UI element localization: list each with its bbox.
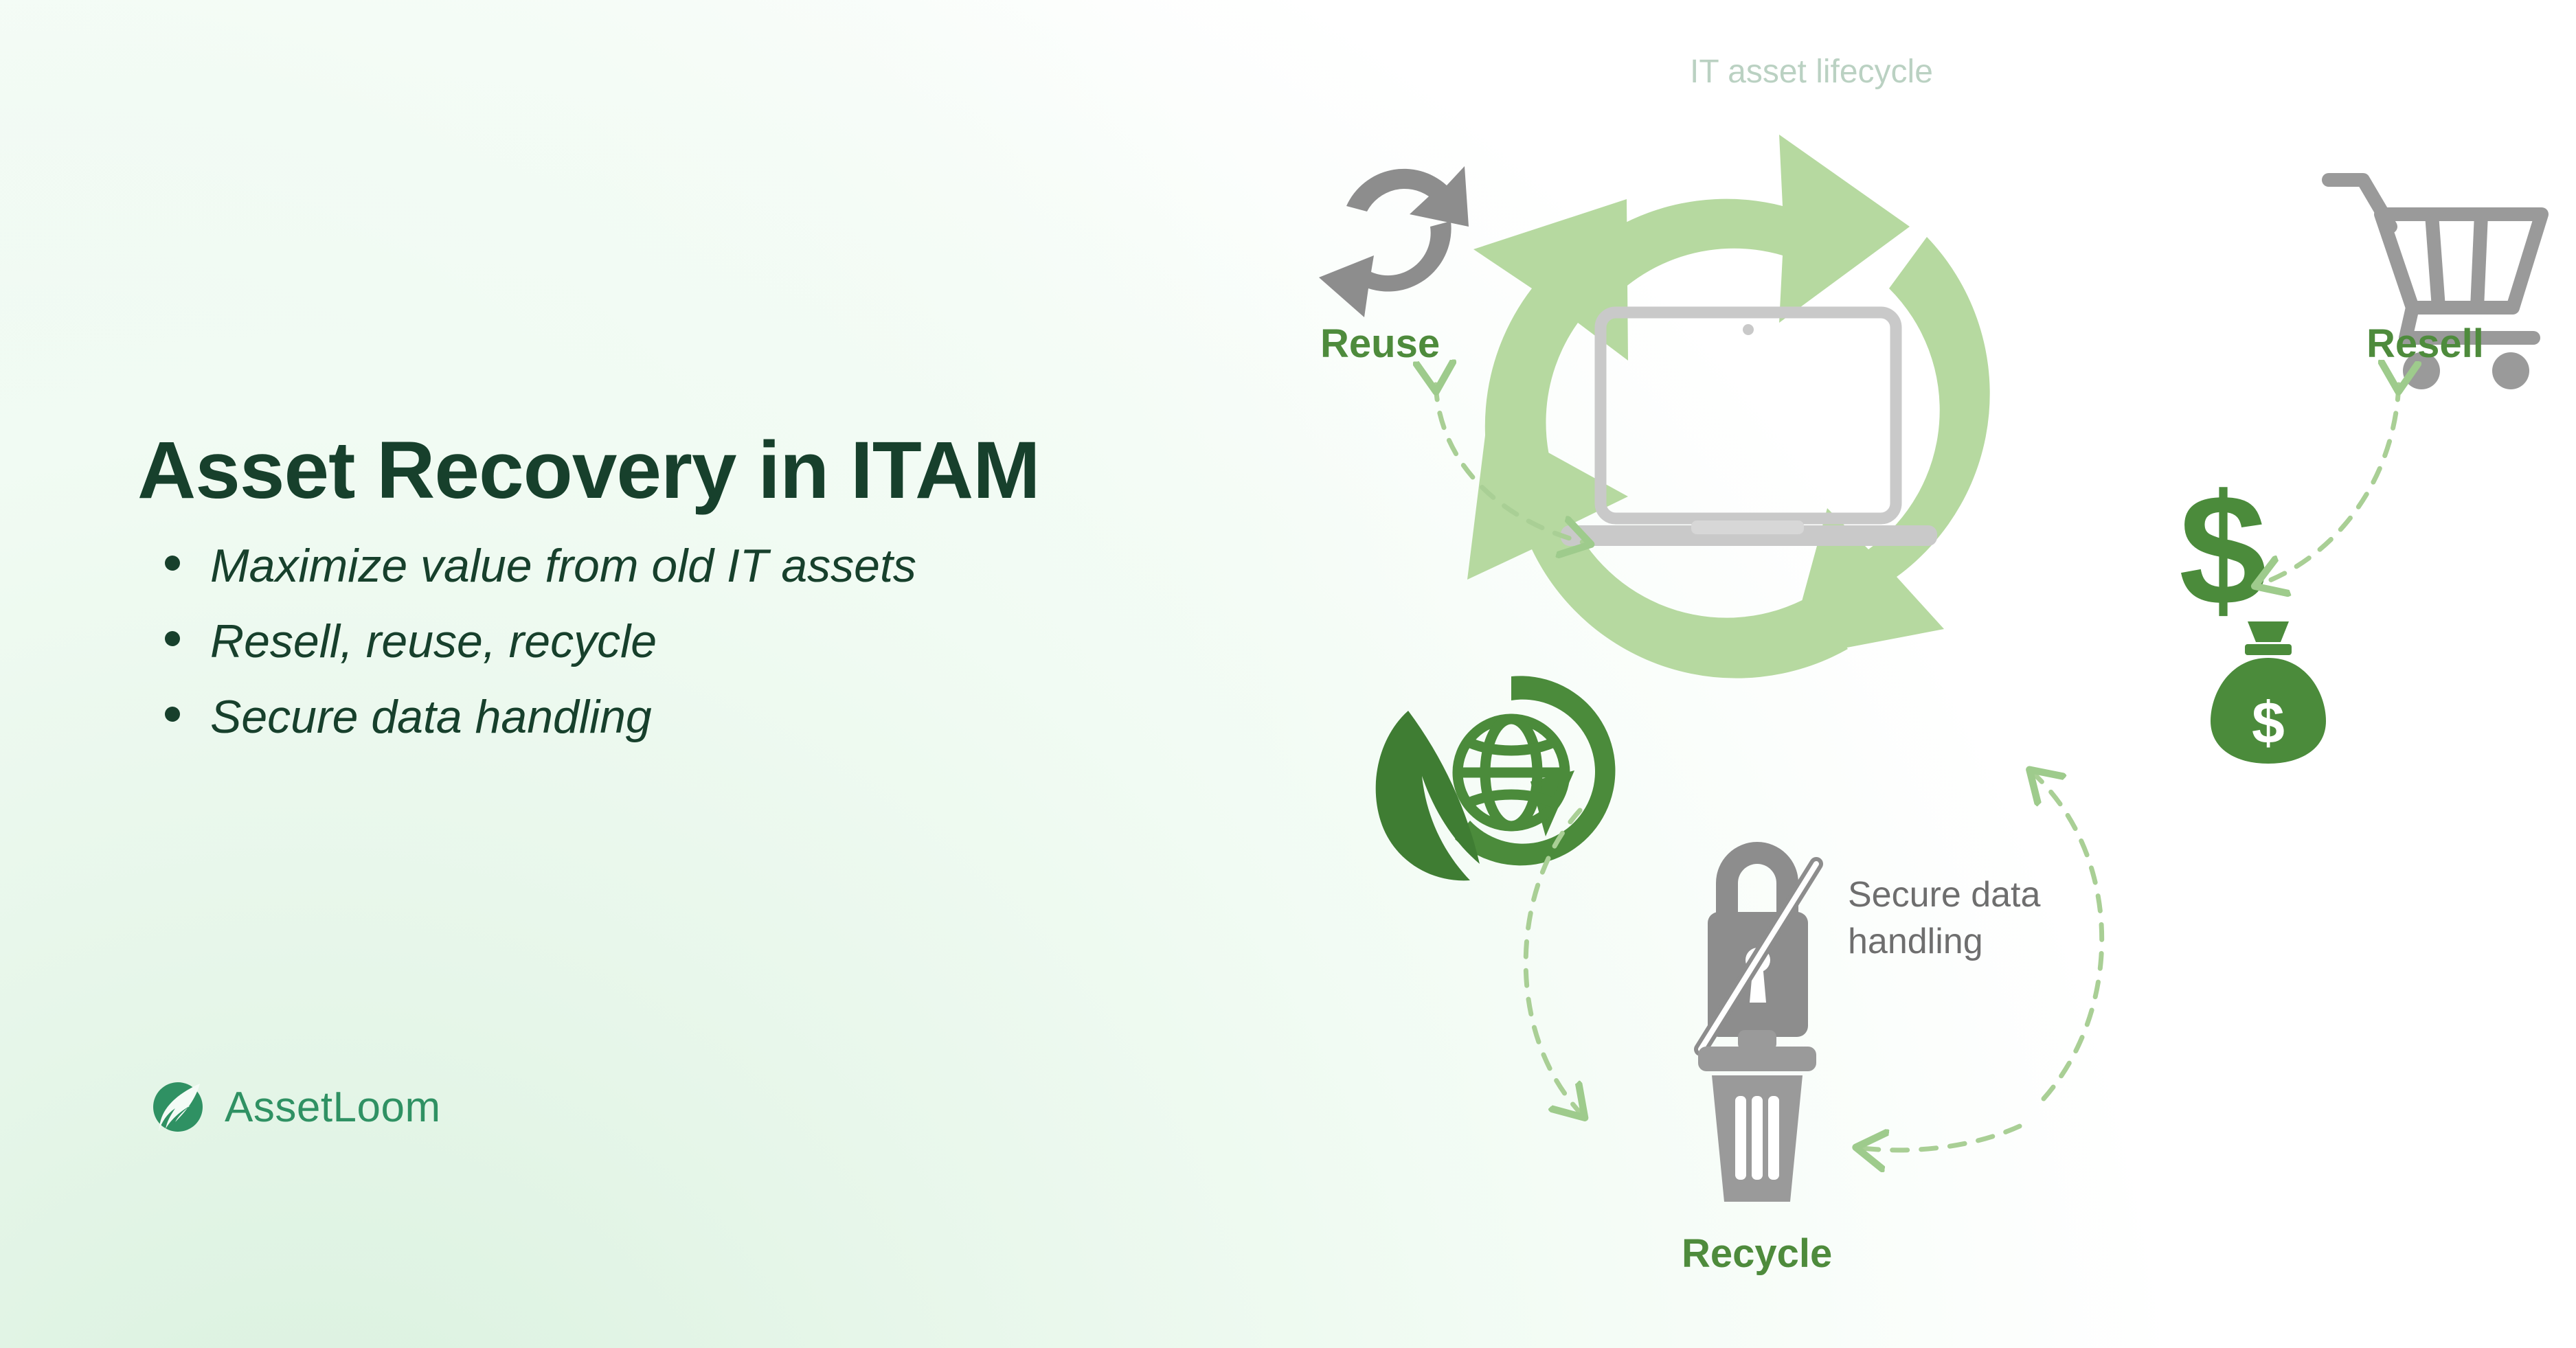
trash-can-icon [1698,1030,1816,1202]
svg-text:$: $ [2179,461,2267,638]
secure-data-line-2: handling [1848,922,1983,961]
bullet-text: Secure data handling [210,694,652,740]
money-bag-icon: $ [2211,621,2326,764]
clipped-caption-text: IT asset lifecycle [1690,54,1933,90]
leaf-circle-icon [148,1077,208,1137]
page-title: Asset Recovery in ITAM [137,429,1040,514]
node-reuse-label: Reuse [1320,321,1440,366]
circular-arrows-icon [1467,135,1990,678]
connector-secure-cycle [2035,775,2102,1099]
node-reuse: Reuse [1319,166,1469,366]
node-resell: Resell [2329,180,2542,389]
bullet-dot-icon [165,707,180,722]
node-resell-label: Resell [2366,321,2484,366]
brand-logo: AssetLoom [148,1077,441,1137]
annotation-secure-data-handling: Secure data handling [1701,842,2040,1049]
bullet-text: Maximize value from old IT assets [210,542,916,589]
list-item: Resell, reuse, recycle [165,618,916,665]
bullet-list: Maximize value from old IT assets Resell… [165,542,916,769]
dollar-sign-icon: $ [2179,461,2267,638]
refresh-cycle-icon [1319,166,1469,317]
eco-globe-leaf-icon [1376,676,1616,880]
svg-text:$: $ [2252,690,2285,756]
brand-name: AssetLoom [225,1083,441,1132]
bullet-dot-icon [165,631,180,646]
asset-recovery-diagram: IT asset lifecycle Reuse [1305,0,2576,1348]
list-item: Secure data handling [165,694,916,740]
connector-to-recycle [1863,1126,2020,1150]
secure-data-line-1: Secure data [1848,875,2040,915]
list-item: Maximize value from old IT assets [165,542,916,589]
node-recycle: Recycle [1682,1030,1832,1276]
shopping-cart-icon [2329,180,2542,338]
cart-wheel-icon [2492,352,2529,389]
lock-slash-icon [1701,842,1816,1049]
node-recycle-label: Recycle [1682,1231,1832,1276]
slide-text-column: Asset Recovery in ITAM Maximize value fr… [0,0,1305,1348]
connector-resell [2261,385,2399,584]
bullet-text: Resell, reuse, recycle [210,618,657,665]
clipped-top-caption: IT asset lifecycle [1690,54,1933,90]
bullet-dot-icon [165,556,180,571]
